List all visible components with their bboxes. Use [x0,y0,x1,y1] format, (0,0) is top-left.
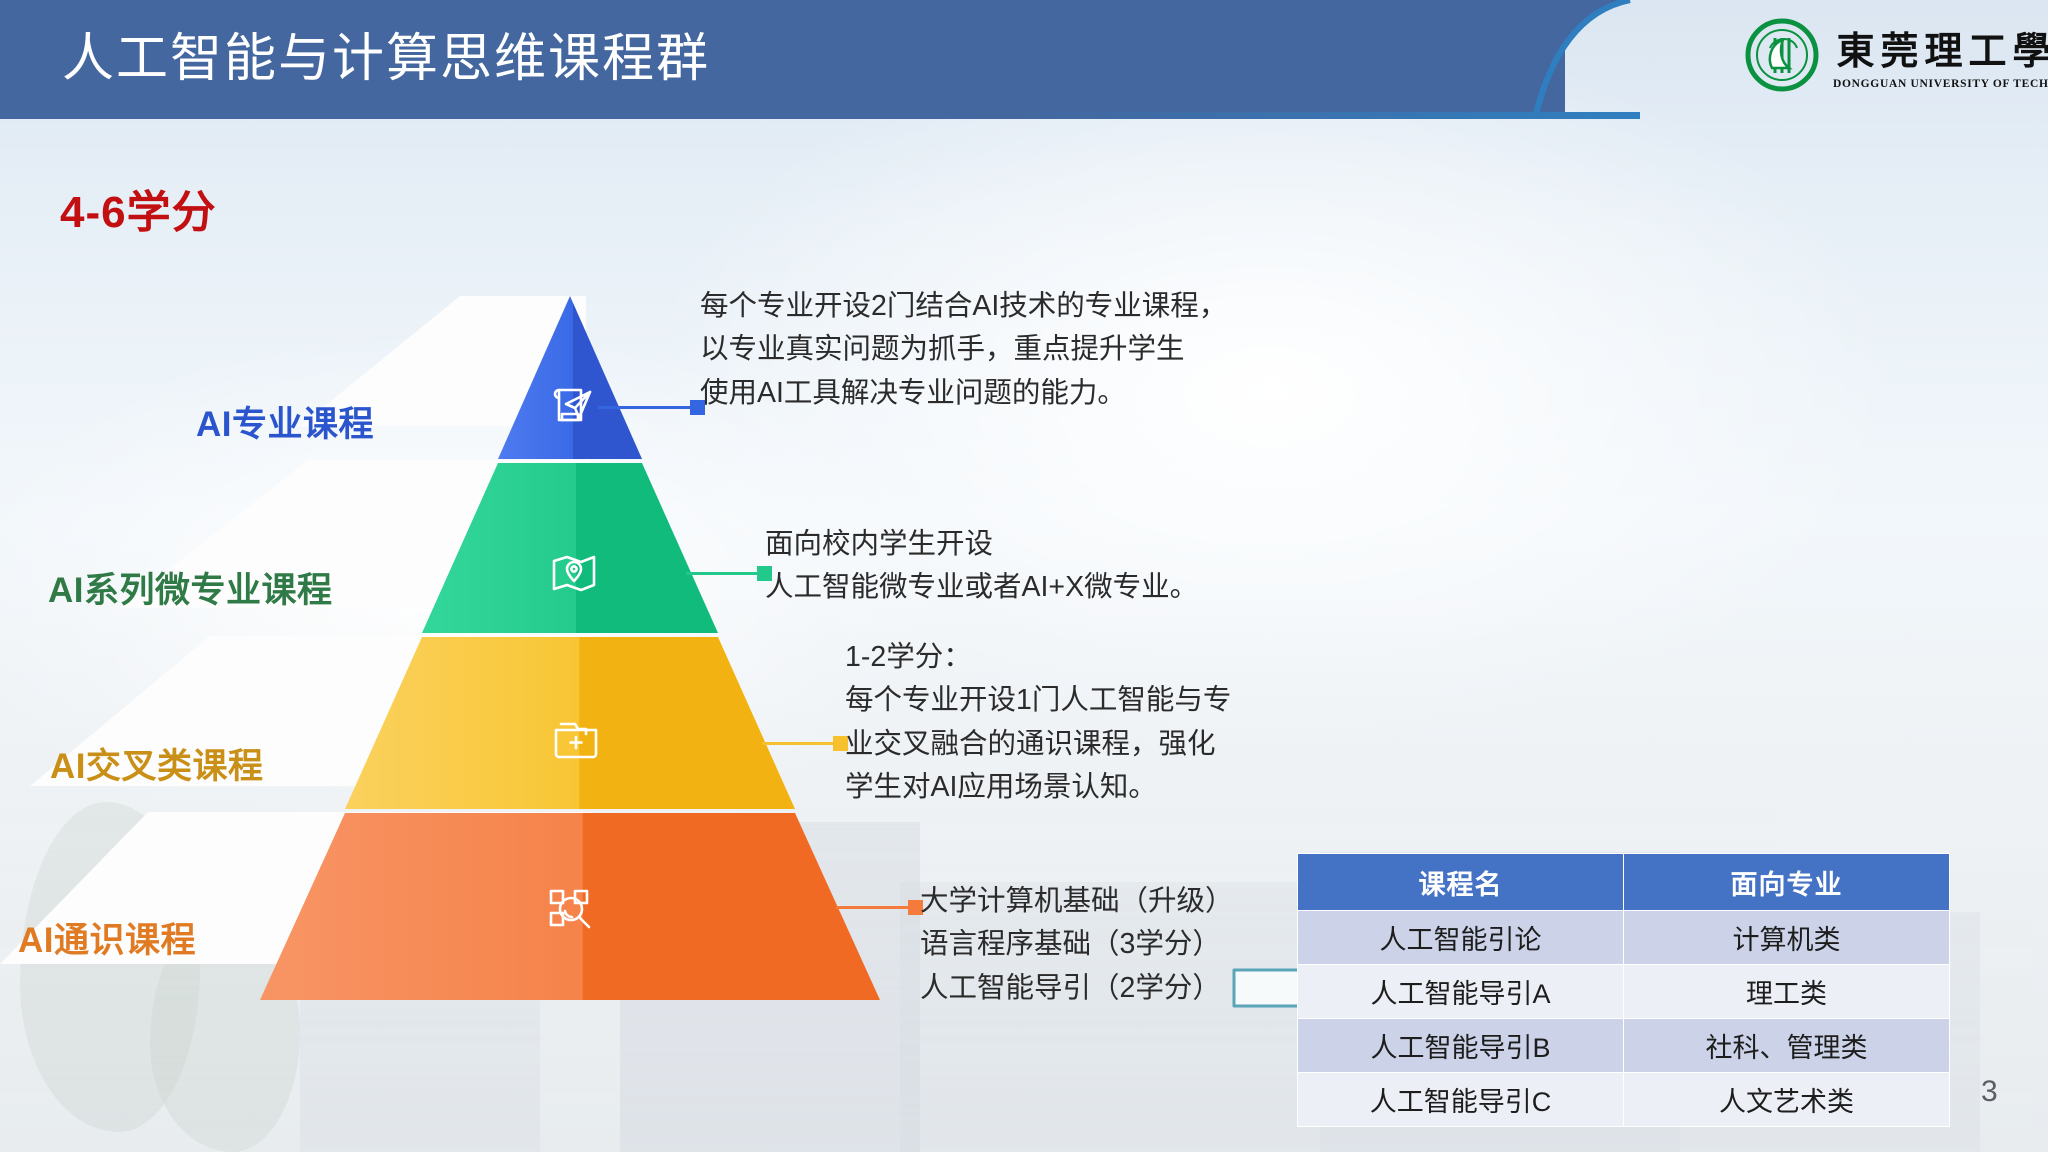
connector-line-4 [836,906,918,909]
table-header-row: 课程名 面向专业 [1298,854,1950,911]
table-row: 人工智能导引C 人文艺术类 [1298,1073,1950,1127]
cell-target-major: 理工类 [1624,965,1950,1019]
map-pin-icon [546,545,602,601]
cell-course-name: 人工智能导引C [1298,1073,1624,1127]
table-header-target-major: 面向专业 [1624,854,1950,911]
cell-target-major: 计算机类 [1624,911,1950,965]
table-header-course-name: 课程名 [1298,854,1624,911]
callout-text-4: 大学计算机基础（升级） 语言程序基础（3学分） 人工智能导引（2学分） [920,880,1234,1010]
table-row: 人工智能导引B 社科、管理类 [1298,1019,1950,1073]
slide: 人工智能与计算思维课程群 東莞理工學院 DONGGUAN UNIVERSITY … [0,0,2048,1152]
callout-text-2: 面向校内学生开设 人工智能微专业或者AI+X微专业。 [765,523,1198,610]
callout-text-3: 1-2学分： 每个专业开设1门人工智能与专 业交叉融合的通识课程，强化 学生对A… [845,636,1231,809]
course-table: 课程名 面向专业 人工智能引论 计算机类 人工智能导引A 理工类 人工智能导引B… [1297,853,1950,1127]
page-number: 3 [1981,1075,1998,1109]
cell-course-name: 人工智能引论 [1298,911,1624,965]
tier-label-ai-major-courses: AI专业课程 [196,396,374,447]
folder-plus-icon [548,712,604,768]
connector-line-1 [598,406,698,409]
search-grid-icon [542,882,598,938]
connector-line-3 [762,742,842,745]
tier-label-ai-general-courses: AI通识课程 [18,912,196,963]
cell-course-name: 人工智能导引B [1298,1019,1624,1073]
cell-target-major: 人文艺术类 [1624,1073,1950,1127]
tier-label-ai-micro-major-courses: AI系列微专业课程 [48,562,333,613]
cell-target-major: 社科、管理类 [1624,1019,1950,1073]
callout-text-1: 每个专业开设2门结合AI技术的专业课程， 以专业真实问题为抓手，重点提升学生 使… [700,285,1227,415]
table-row: 人工智能导引A 理工类 [1298,965,1950,1019]
tier-label-ai-crossover-courses: AI交叉类课程 [50,738,264,789]
cell-course-name: 人工智能导引A [1298,965,1624,1019]
connector-line-2 [686,572,766,575]
scroll-paperplane-icon [546,378,602,434]
table-row: 人工智能引论 计算机类 [1298,911,1950,965]
